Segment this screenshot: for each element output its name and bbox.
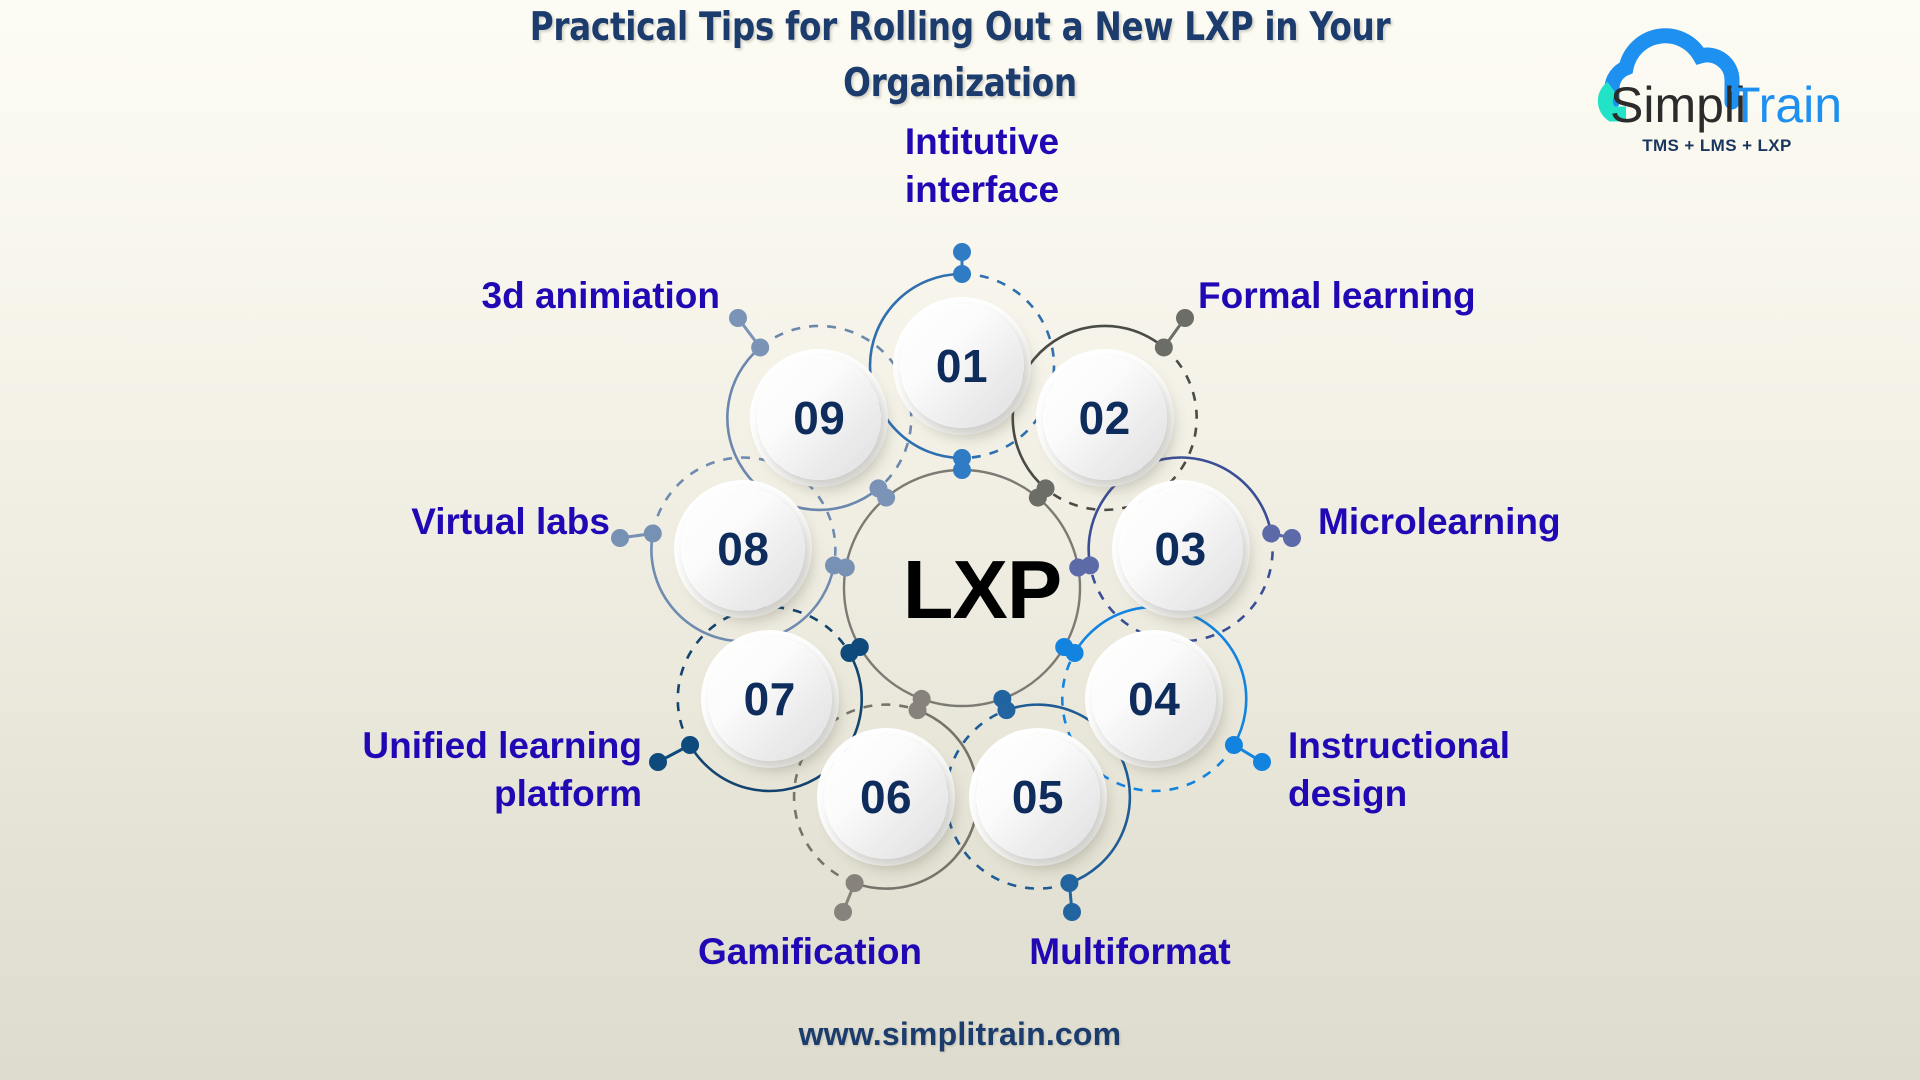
label-dot-03 [1283,529,1301,547]
node-bubble-05[interactable]: 05 [976,735,1100,859]
ring-inner-dot-01 [953,449,971,467]
node-bubble-07[interactable]: 07 [708,637,832,761]
node-label-04: Instructional design [1288,722,1618,818]
node-number-05: 05 [1012,770,1064,824]
node-number-04: 04 [1128,672,1180,726]
node-label-09: 3d animiation [400,272,720,320]
label-dot-04 [1253,753,1271,771]
ring-outer-dot-04 [1225,736,1243,754]
label-dot-07 [649,753,667,771]
ring-inner-dot-02 [1037,479,1055,497]
node-number-01: 01 [936,339,988,393]
label-dot-08 [611,529,629,547]
label-dot-09 [729,309,747,327]
node-label-02: Formal learning [1198,272,1618,320]
radial-diagram: 01Intitutive interface02Formal learning0… [0,0,1920,1080]
ring-outer-dot-07 [681,736,699,754]
node-label-06: Gamification [660,928,960,976]
ring-outer-dot-05 [1060,874,1078,892]
ring-outer-dot-02 [1155,338,1173,356]
label-dot-06 [834,903,852,921]
node-bubble-04[interactable]: 04 [1092,637,1216,761]
node-number-08: 08 [717,522,769,576]
ring-inner-dot-06 [909,701,927,719]
node-number-03: 03 [1155,522,1207,576]
ring-inner-dot-09 [869,479,887,497]
ring-outer-dot-06 [846,874,864,892]
node-label-01: Intitutive interface [852,118,1112,214]
node-label-07: Unified learning platform [262,722,642,818]
hub-label: LXP [862,530,1102,650]
node-label-03: Microlearning [1318,498,1698,546]
node-bubble-01[interactable]: 01 [900,304,1024,428]
ring-inner-dot-08 [825,556,843,574]
node-bubble-02[interactable]: 02 [1043,356,1167,480]
ring-outer-dot-09 [751,338,769,356]
node-label-08: Virtual labs [340,498,610,546]
label-dot-02 [1176,309,1194,327]
label-dot-01 [953,243,971,261]
label-dot-05 [1063,903,1081,921]
node-number-06: 06 [860,770,912,824]
node-label-05: Multiformat [980,928,1280,976]
ring-outer-dot-03 [1262,524,1280,542]
ring-outer-dot-08 [644,524,662,542]
node-number-02: 02 [1079,391,1131,445]
node-bubble-09[interactable]: 09 [757,356,881,480]
node-number-09: 09 [793,391,845,445]
node-bubble-03[interactable]: 03 [1119,487,1243,611]
node-bubble-08[interactable]: 08 [681,487,805,611]
node-bubble-06[interactable]: 06 [824,735,948,859]
ring-inner-dot-07 [840,644,858,662]
website-url: www.simplitrain.com [0,1016,1920,1053]
ring-outer-dot-01 [953,265,971,283]
node-number-07: 07 [744,672,796,726]
ring-inner-dot-05 [997,701,1015,719]
